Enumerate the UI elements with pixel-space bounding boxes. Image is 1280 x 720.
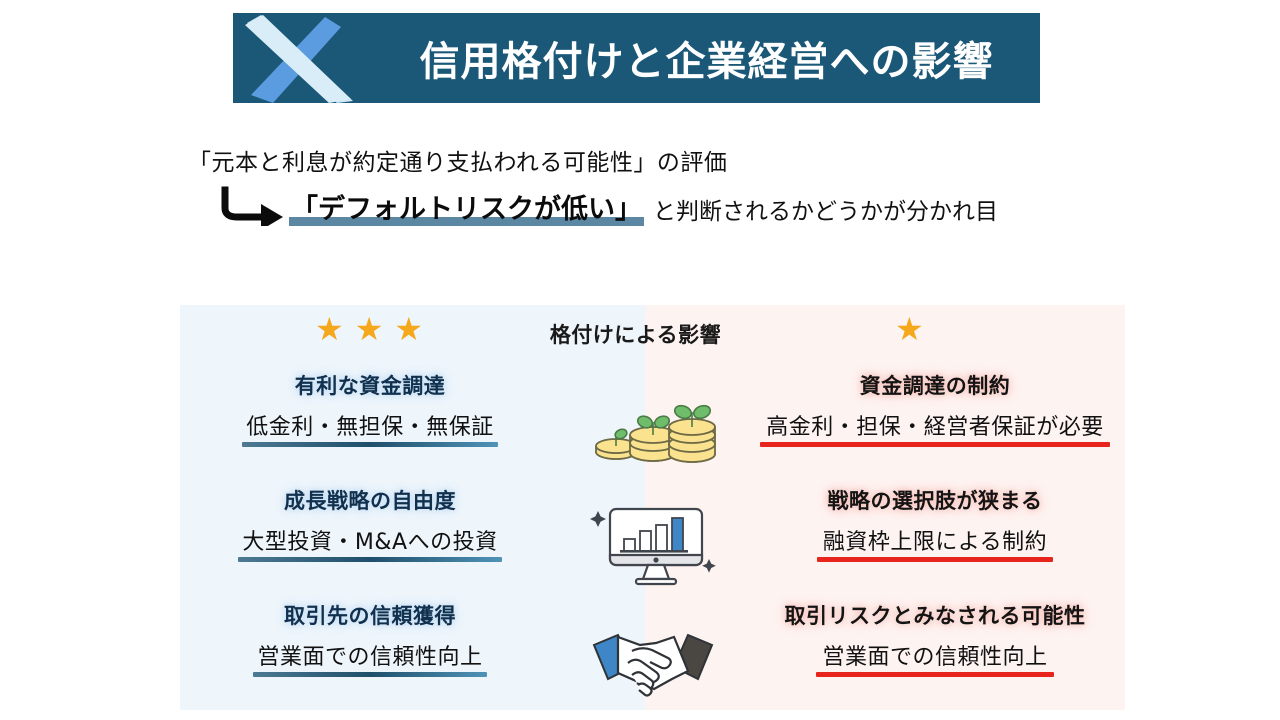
cell-heading: 有利な資金調達 — [190, 373, 550, 399]
monitor-bar-chart-icon — [578, 498, 728, 593]
comparison-header: ★ ★ ★ 格付けによる影響 ★ — [180, 305, 1125, 367]
coin-stack-growth-icon — [578, 383, 728, 478]
rating-stars-high: ★ ★ ★ — [315, 313, 423, 345]
cell-heading: 取引リスクとみなされる可能性 — [755, 603, 1115, 629]
star-icon: ★ — [315, 313, 344, 345]
comparison-row: 成長戦略の自由度 大型投資・M&Aへの投資 戦略の選択肢が狭まる 融資枠上限によ — [180, 488, 1125, 603]
row-right-cell: 戦略の選択肢が狭まる 融資枠上限による制約 — [755, 488, 1115, 562]
cell-heading: 成長戦略の自由度 — [190, 488, 550, 514]
x-mark-logo-icon — [233, 13, 373, 103]
default-risk-highlight: 「デフォルトリスクが低い」 — [289, 194, 644, 226]
cell-subtext: 融資枠上限による制約 — [823, 524, 1047, 562]
subtitle-tail: と判断されるかどうかが分かれ目 — [653, 192, 998, 226]
subtitle-block: 「元本と利息が約定通り支払われる可能性」の評価 「デフォルトリスクが低い」 と判… — [0, 143, 1280, 226]
star-icon: ★ — [355, 313, 384, 345]
subtitle-line-2: 「デフォルトリスクが低い」 と判断されるかどうかが分かれ目 — [0, 186, 1280, 226]
row-right-cell: 取引リスクとみなされる可能性 営業面での信頼性向上 — [755, 603, 1115, 677]
cell-subtext: 低金利・無担保・無保証 — [246, 409, 494, 447]
star-icon: ★ — [394, 313, 423, 345]
row-left-cell: 取引先の信頼獲得 営業面での信頼性向上 — [190, 603, 550, 677]
cell-subtext: 営業面での信頼性向上 — [822, 639, 1047, 677]
comparison-panel: ★ ★ ★ 格付けによる影響 ★ 有利な資金調達 低金利・無担保・無保証 — [180, 305, 1125, 710]
rating-stars-low: ★ — [895, 313, 924, 345]
page-title: 信用格付けと企業経営への影響 — [383, 13, 1030, 103]
comparison-row: 取引先の信頼獲得 営業面での信頼性向上 取引リスクとみなされる可能性 営業面での… — [180, 603, 1125, 718]
cell-heading: 資金調達の制約 — [755, 373, 1115, 399]
star-icon: ★ — [895, 313, 924, 345]
row-left-cell: 有利な資金調達 低金利・無担保・無保証 — [190, 373, 550, 447]
arrow-turn-down-right-icon — [213, 186, 285, 226]
handshake-icon — [578, 613, 728, 708]
cell-heading: 取引先の信頼獲得 — [190, 603, 550, 629]
cell-heading: 戦略の選択肢が狭まる — [755, 488, 1115, 514]
comparison-row: 有利な資金調達 低金利・無担保・無保証 — [180, 373, 1125, 488]
subtitle-line-1: 「元本と利息が約定通り支払われる可能性」の評価 — [0, 143, 1280, 177]
row-left-cell: 成長戦略の自由度 大型投資・M&Aへの投資 — [190, 488, 550, 562]
cell-subtext: 大型投資・M&Aへの投資 — [242, 524, 497, 562]
cell-subtext: 高金利・担保・経営者保証が必要 — [766, 409, 1104, 447]
title-bar: 信用格付けと企業経営への影響 — [233, 13, 1040, 103]
comparison-header-label: 格付けによる影響 — [518, 319, 753, 349]
cell-subtext: 営業面での信頼性向上 — [257, 639, 482, 677]
row-right-cell: 資金調達の制約 高金利・担保・経営者保証が必要 — [755, 373, 1115, 447]
